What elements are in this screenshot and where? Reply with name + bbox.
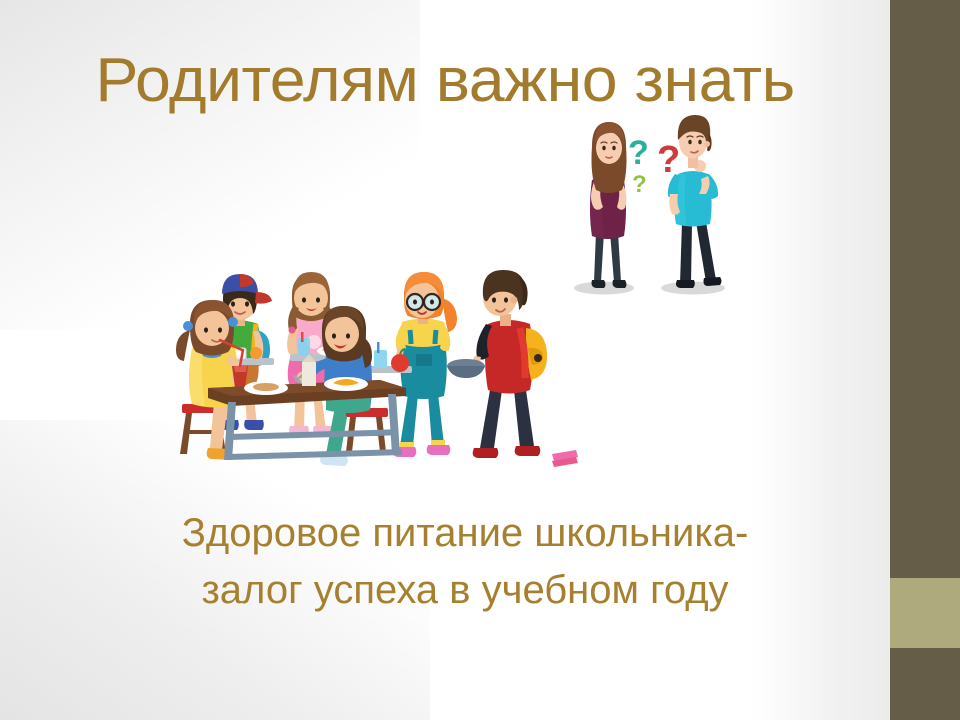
svg-text:?: ? xyxy=(632,171,647,198)
subtitle-line-1: Здоровое питание школьника- xyxy=(70,505,860,562)
pink-book-object xyxy=(552,450,578,467)
presentation-slide: ? ? ? xyxy=(0,0,960,720)
school-canteen-illustration xyxy=(170,262,580,490)
question-mark-teal: ? xyxy=(628,134,649,172)
child-boy-yellow-backpack xyxy=(447,270,547,458)
slide-title: Родителям важно знать xyxy=(0,50,908,112)
svg-text:?: ? xyxy=(628,134,649,172)
right-accent-block xyxy=(890,578,960,648)
subtitle-line-2: залог успеха в учебном году xyxy=(70,562,860,619)
woman-figure xyxy=(590,122,627,288)
couple-with-question-marks-illustration: ? ? ? xyxy=(560,112,770,302)
question-mark-green: ? xyxy=(632,171,647,198)
slide-subtitle: Здоровое питание школьника- залог успеха… xyxy=(70,505,860,619)
